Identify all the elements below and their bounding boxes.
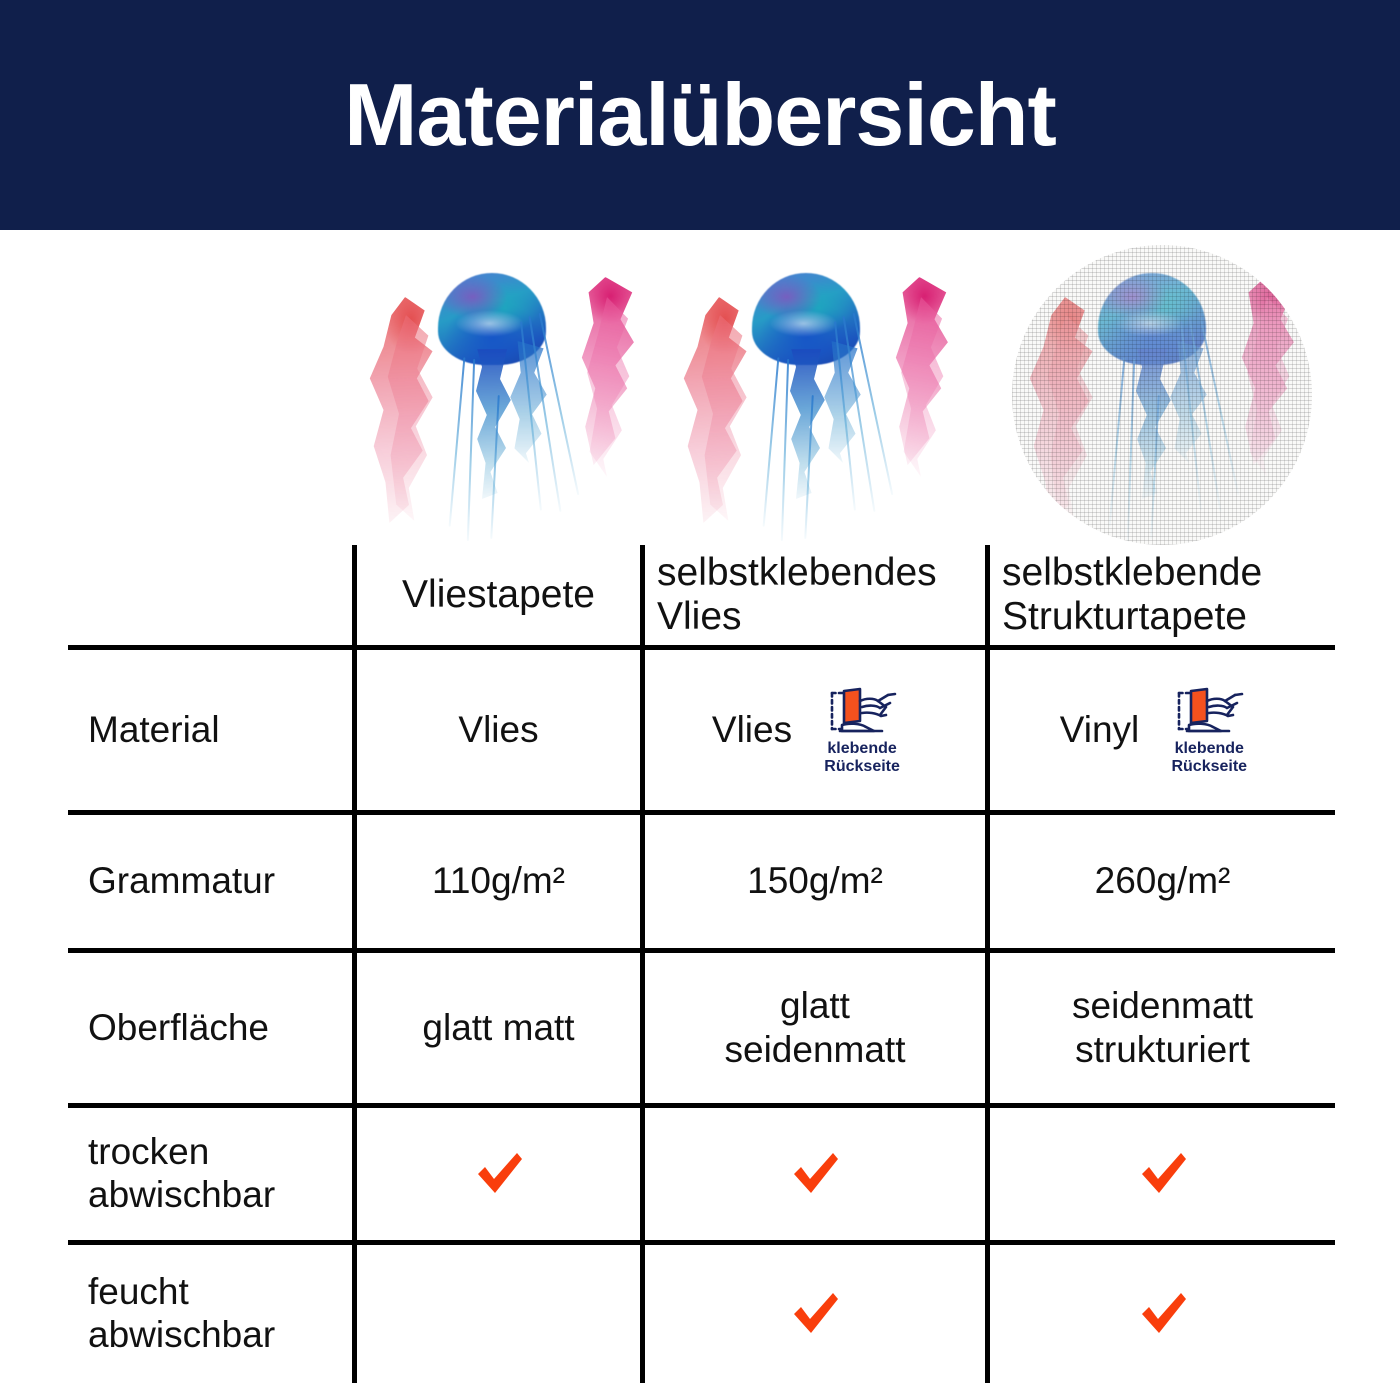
cell-feucht-abwischbar-selbstklebendes-vlies: [645, 1245, 985, 1383]
jellyfish-tentacle: [467, 359, 475, 541]
cell-grammatur-selbstklebendes-vlies: 150g/m²: [645, 815, 985, 948]
adhesive-backing-badge-label: klebende Rückseite: [824, 740, 900, 776]
row-label-trocken-abwischbar: trocken abwischbar: [68, 1108, 352, 1240]
jellyfish-tentacle: [1127, 359, 1135, 541]
row-label-oberflaeche: Oberfläche: [68, 953, 352, 1103]
jellyfish-tentacle: [781, 359, 789, 541]
jellyfish-tentacle: [449, 357, 466, 527]
cell-material-selbstklebende-strukturtapete: Vinyl: [990, 650, 1335, 810]
cell-material-selbstklebendes-vlies: Vlies: [645, 650, 985, 810]
cell-trocken-abwischbar-selbstklebende-strukturtapete: [990, 1108, 1335, 1240]
jellyfish-tentacle: [1109, 357, 1126, 527]
cell-oberflaeche-vliestapete: glatt matt: [357, 953, 640, 1103]
row-label-feucht-abwischbar: feucht abwischbar: [68, 1245, 352, 1383]
magenta-watercolor-shape-secondary: [1236, 297, 1298, 477]
material-comparison-table: Vliestapete selbstklebendes Vlies selbst…: [68, 545, 1335, 1383]
cell-material-vliestapete: Vlies: [357, 650, 640, 810]
adhesive-backing-badge: klebende Rückseite: [1153, 685, 1265, 776]
cell-grammatur-selbstklebende-strukturtapete: 260g/m²: [990, 815, 1335, 948]
peel-adhesive-backing-icon: [826, 685, 898, 737]
column-header-label: Vliestapete: [402, 573, 595, 617]
cell-trocken-abwischbar-vliestapete: [357, 1108, 640, 1240]
check-mark-icon: [470, 1145, 528, 1203]
cell-grammatur-vliestapete: 110g/m²: [357, 815, 640, 948]
page-title: Materialübersicht: [344, 71, 1056, 159]
cell-feucht-abwischbar-vliestapete: [357, 1245, 640, 1383]
cell-value: Vinyl: [1060, 708, 1140, 752]
jellyfish-artwork: [666, 245, 966, 545]
cell-feucht-abwischbar-selbstklebende-strukturtapete: [990, 1245, 1335, 1383]
row-label-grammatur: Grammatur: [68, 815, 352, 948]
sample-preview-strip: [0, 245, 1400, 545]
check-mark-icon: [1134, 1285, 1192, 1343]
cell-oberflaeche-selbstklebende-strukturtapete: seidenmatt strukturiert: [990, 953, 1335, 1103]
jellyfish-artwork: [352, 245, 652, 545]
jellyfish-tentacle: [853, 313, 894, 495]
column-header-vliestapete: Vliestapete: [357, 545, 640, 645]
jellyfish-tentacle: [763, 357, 780, 527]
adhesive-backing-badge-label: klebende Rückseite: [1171, 740, 1247, 776]
header-banner: Materialübersicht: [0, 0, 1400, 230]
check-mark-icon: [786, 1145, 844, 1203]
peel-adhesive-backing-icon: [1173, 685, 1245, 737]
cell-value: Vlies: [458, 708, 538, 752]
column-header-label: selbstklebendes Vlies: [657, 551, 985, 638]
magenta-watercolor-shape-secondary: [576, 297, 638, 477]
check-mark-icon: [1134, 1145, 1192, 1203]
cell-value: Vlies: [712, 708, 792, 752]
sample-selbstklebendes-vlies: [666, 245, 966, 545]
sample-selbstklebende-strukturtapete: [1012, 245, 1312, 545]
magenta-watercolor-shape-secondary: [890, 297, 952, 477]
cell-oberflaeche-selbstklebendes-vlies: glatt seidenmatt: [645, 953, 985, 1103]
row-label-material: Material: [68, 650, 352, 810]
column-header-selbstklebende-strukturtapete: selbstklebende Strukturtapete: [990, 545, 1335, 645]
check-mark-icon: [786, 1285, 844, 1343]
jellyfish-tentacle: [539, 313, 580, 495]
adhesive-backing-badge: klebende Rückseite: [806, 685, 918, 776]
jellyfish-tentacle: [1199, 313, 1240, 495]
column-header-label: selbstklebende Strukturtapete: [1002, 551, 1335, 638]
cell-trocken-abwischbar-selbstklebendes-vlies: [645, 1108, 985, 1240]
jellyfish-artwork: [1012, 245, 1312, 545]
material-overview-page: Materialübersicht: [0, 0, 1400, 1400]
column-header-selbstklebendes-vlies: selbstklebendes Vlies: [645, 545, 985, 645]
sample-vliestapete: [352, 245, 652, 545]
